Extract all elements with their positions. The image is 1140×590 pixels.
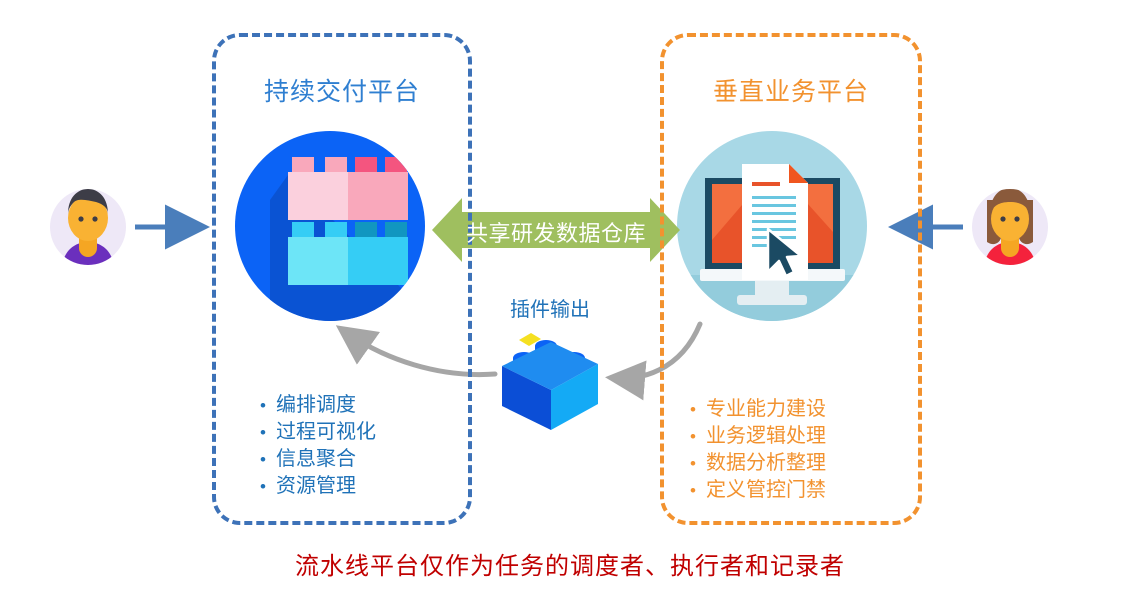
diagram-caption: 流水线平台仅作为任务的调度者、执行者和记录者 <box>0 546 1140 581</box>
right-panel-bullets: • 专业能力建设 • 业务逻辑处理 • 数据分析整理 • 定义管控门禁 <box>690 396 826 504</box>
user-avatar-male <box>50 189 126 270</box>
list-item-label: 资源管理 <box>276 473 356 500</box>
list-item-label: 业务逻辑处理 <box>706 423 826 450</box>
list-item-label: 数据分析整理 <box>706 450 826 477</box>
bullet-marker: • <box>690 477 706 504</box>
bullet-marker: • <box>260 419 276 446</box>
list-item: • 业务逻辑处理 <box>690 423 826 450</box>
bullet-marker: • <box>690 423 706 450</box>
bullet-marker: • <box>260 473 276 500</box>
list-item-label: 定义管控门禁 <box>706 477 826 504</box>
list-item: • 数据分析整理 <box>690 450 826 477</box>
list-item: • 过程可视化 <box>260 419 376 446</box>
list-item: • 资源管理 <box>260 473 376 500</box>
user-avatar-female <box>972 188 1048 270</box>
list-item: • 专业能力建设 <box>690 396 826 423</box>
banner-label: 共享研发数据仓库 <box>432 216 680 248</box>
left-panel-title: 持续交付平台 <box>212 72 472 108</box>
list-item: • 编排调度 <box>260 392 376 419</box>
bullet-marker: • <box>260 392 276 419</box>
plugin-brick-icon <box>502 333 598 430</box>
bullet-marker: • <box>260 446 276 473</box>
right-panel-title: 垂直业务平台 <box>660 72 922 108</box>
list-item: • 定义管控门禁 <box>690 477 826 504</box>
list-item-label: 编排调度 <box>276 392 356 419</box>
diagram-canvas: 持续交付平台 垂直业务平台 共享研发数据仓库 插件输出 • 编排调度 • 过程可… <box>0 0 1140 590</box>
bullet-marker: • <box>690 396 706 423</box>
list-item: • 信息聚合 <box>260 446 376 473</box>
plugin-output-label: 插件输出 <box>466 293 634 322</box>
left-panel-bullets: • 编排调度 • 过程可视化 • 信息聚合 • 资源管理 <box>260 392 376 500</box>
list-item-label: 专业能力建设 <box>706 396 826 423</box>
list-item-label: 过程可视化 <box>276 419 376 446</box>
bullet-marker: • <box>690 450 706 477</box>
list-item-label: 信息聚合 <box>276 446 356 473</box>
